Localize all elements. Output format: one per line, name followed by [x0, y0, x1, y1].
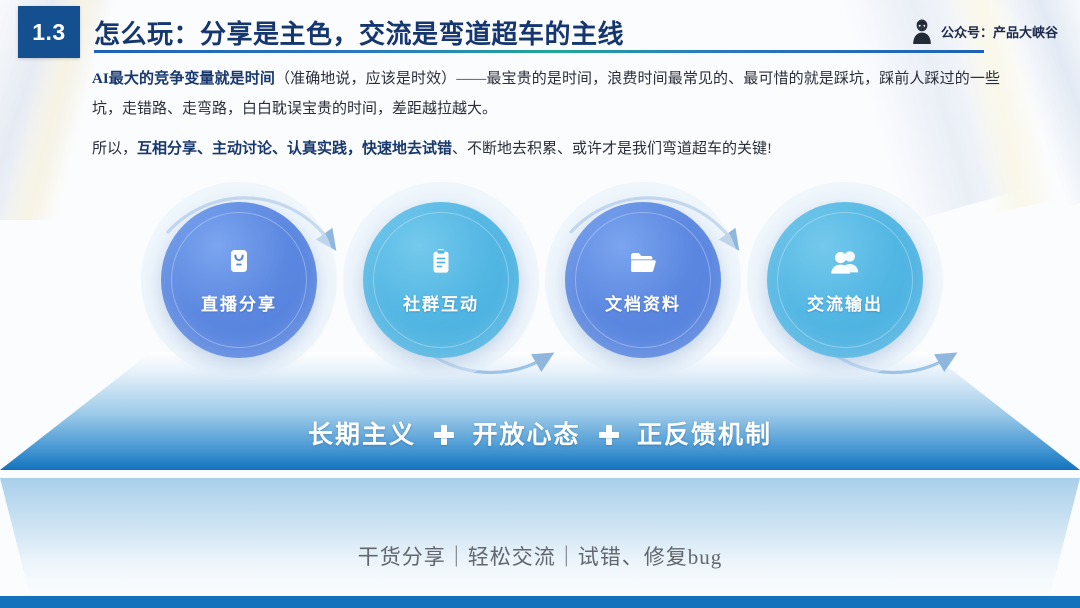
page-title: 怎么玩：分享是主色，交流是弯道超车的主线 — [94, 14, 624, 51]
users-icon — [828, 246, 862, 280]
node-disc: 文档资料 — [565, 202, 721, 358]
paragraph-one-lead: AI最大的竞争变量就是时间 — [92, 71, 275, 87]
paragraph-two-prefix: 所以， — [92, 141, 137, 157]
paragraph-two-suffix: 、不断地去积累、或许才是我们弯道超车的关键! — [452, 141, 772, 157]
folder-icon — [626, 246, 660, 280]
clipboard-icon — [424, 246, 458, 280]
wechat-account-label: 公众号：产品大峡谷 — [941, 22, 1058, 41]
footer-tagline: 干货分享｜轻松交流｜试错、修复bug — [0, 541, 1080, 571]
banner-item-1: 长期主义 — [308, 422, 416, 449]
paragraph-two-emphasis: 互相分享、主动讨论、认真实践，快速地去试错 — [137, 141, 452, 157]
section-number-badge: 1.3 — [18, 6, 80, 58]
footer-band — [0, 478, 1080, 596]
node-label: 社群互动 — [403, 290, 479, 315]
paragraph-two: 所以，互相分享、主动讨论、认真实践，快速地去试错、不断地去积累、或许才是我们弯道… — [92, 134, 1000, 164]
plus-icon — [434, 425, 454, 445]
package-box-icon — [222, 246, 256, 280]
plus-icon — [599, 425, 619, 445]
node-disc: 社群互动 — [363, 202, 519, 358]
flow-node-exchange-output[interactable]: 交流输出 — [747, 182, 943, 378]
footer-gap — [0, 470, 1080, 478]
node-disc: 交流输出 — [767, 202, 923, 358]
node-label: 交流输出 — [807, 290, 883, 315]
flow-node-live-sharing[interactable]: 直播分享 — [141, 182, 337, 378]
banner-item-3: 正反馈机制 — [637, 422, 772, 449]
node-label: 直播分享 — [201, 290, 277, 315]
bottom-accent-bar — [0, 596, 1080, 608]
node-label: 文档资料 — [605, 290, 681, 315]
wechat-account: 公众号：产品大峡谷 — [910, 18, 1058, 44]
banner-formula: 长期主义 开放心态 正反馈机制 — [0, 415, 1080, 451]
title-underline-rule — [94, 50, 984, 53]
flow-node-community[interactable]: 社群互动 — [343, 182, 539, 378]
slide-root: 1.3 怎么玩：分享是主色，交流是弯道超车的主线 公众号：产品大峡谷 AI最大的… — [0, 0, 1080, 608]
flow-node-row: 直播分享 社群互动 — [0, 182, 1080, 382]
banner-item-2: 开放心态 — [472, 422, 580, 449]
person-avatar-icon — [910, 18, 934, 44]
node-disc: 直播分享 — [161, 202, 317, 358]
flow-node-documents[interactable]: 文档资料 — [545, 182, 741, 378]
paragraph-one: AI最大的竞争变量就是时间（准确地说，应该是时效）——最宝贵的是时间，浪费时间最… — [92, 64, 1000, 124]
